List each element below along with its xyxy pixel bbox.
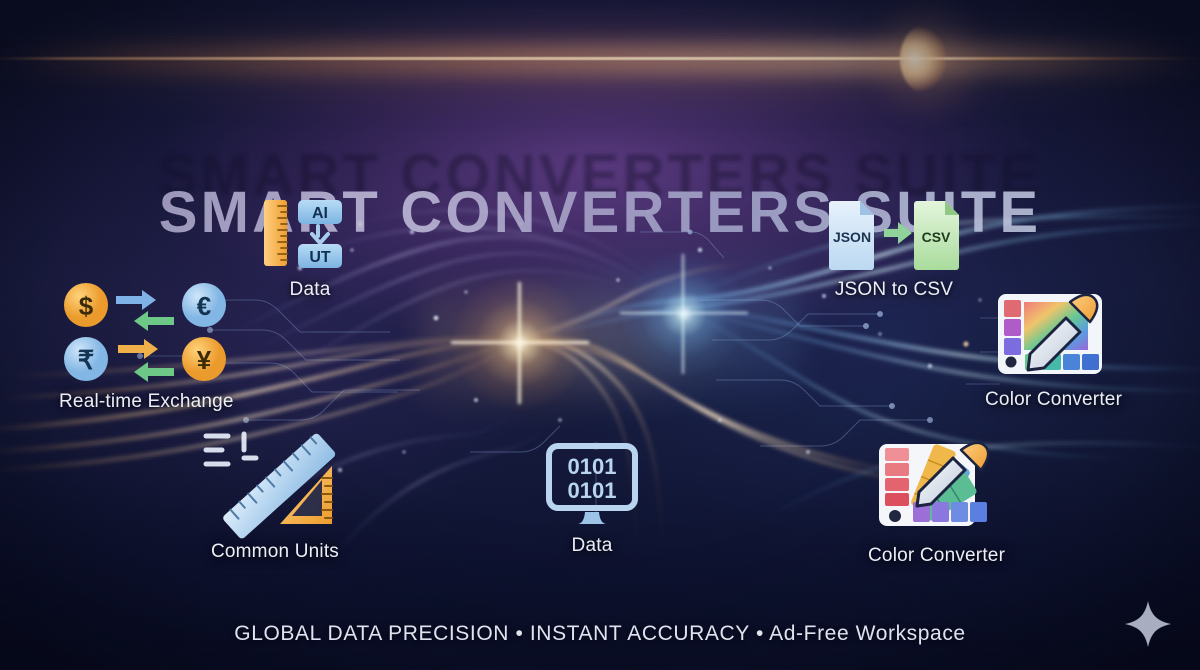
feature-binary-data[interactable]: 0101 0101 Data: [545, 442, 639, 557]
poster-canvas: SMART CONVERTERS SUITE SMART CONVERTERS …: [0, 0, 1200, 670]
currency-exchange-icon: $ € ₹ ¥: [61, 282, 231, 382]
source-format-text: JSON: [833, 229, 871, 245]
svg-text:¥: ¥: [197, 345, 212, 375]
top-light-beam: [0, 0, 1200, 140]
feature-label: Common Units: [211, 541, 339, 563]
feature-real-time-exchange[interactable]: $ € ₹ ¥ Real-time Exchange: [59, 282, 234, 413]
feature-label: Color Converter: [868, 545, 1005, 567]
lens-flare-crescent: [900, 26, 946, 92]
monitor-binary-icon: 0101 0101: [545, 442, 639, 526]
core-halo: [420, 250, 800, 430]
ruler-unit-convert-icon: AI UT: [262, 198, 358, 270]
target-format-text: CSV: [922, 229, 951, 245]
light-burst-cool: [616, 246, 752, 382]
svg-text:€: €: [197, 291, 211, 321]
to-unit-text: UT: [309, 249, 331, 266]
from-unit-text: AI: [312, 205, 328, 222]
svg-text:$: $: [79, 291, 94, 321]
ruler-set-square-icon: [200, 428, 350, 532]
beam-glow: [0, 44, 1200, 74]
feature-color-converter-right[interactable]: Color Converter: [985, 288, 1122, 411]
color-palette-eyedropper-icon: [994, 288, 1114, 380]
beam-core: [0, 57, 1200, 60]
feature-json-to-csv[interactable]: JSON CSV JSON to CSV: [828, 198, 960, 301]
feature-label: JSON to CSV: [835, 279, 953, 301]
tagline: GLOBAL DATA PRECISION • INSTANT ACCURACY…: [0, 622, 1200, 646]
feature-label: Data: [290, 279, 331, 301]
lens-flare-halo: [862, 0, 992, 124]
feature-label: Color Converter: [985, 389, 1122, 411]
feature-common-units[interactable]: Common Units: [200, 428, 350, 563]
svg-text:₹: ₹: [78, 345, 95, 375]
binary-line-1: 0101: [568, 454, 617, 479]
file-convert-icon: JSON CSV: [828, 198, 960, 270]
page-title: SMART CONVERTERS SUITE: [0, 179, 1200, 246]
color-swatch-fan-eyedropper-icon: [873, 440, 1001, 536]
feature-label: Real-time Exchange: [59, 391, 234, 413]
binary-line-2: 0101: [568, 478, 617, 503]
beam-outer-glow: [0, 30, 1200, 90]
feature-data-unit-convert[interactable]: AI UT Data: [262, 198, 358, 301]
light-burst-warm: [445, 268, 595, 418]
feature-color-converter-bottom[interactable]: Color Converter: [868, 440, 1005, 567]
feature-label: Data: [572, 535, 613, 557]
